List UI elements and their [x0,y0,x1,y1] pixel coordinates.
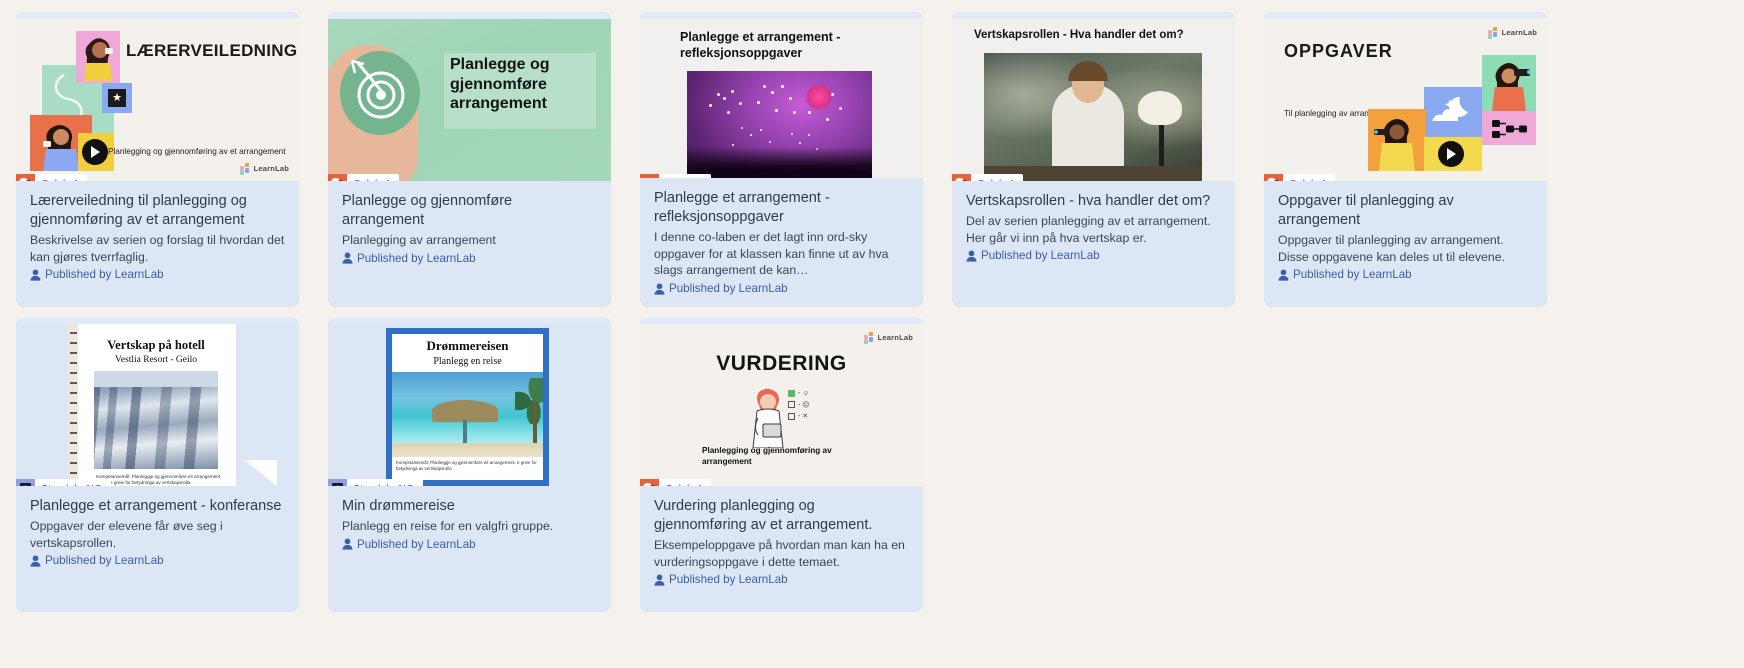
thumbnail-art-notebook: Vertskap på hotell Vestlia Resort - Geil… [16,324,299,486]
card-publisher: Published by LearnLab [654,282,909,295]
card-top-strip [640,12,923,19]
card-description: Planlegg en reise for en valgfri gruppe. [342,518,597,535]
thumbnail-heading: LÆRERVEILEDNING [126,41,297,61]
thumbnail-art-laererveiledning: ★ LÆRERVEILEDNING Planlegging og gjennom… [16,19,299,181]
colab-speech-bubbles-icon [328,174,347,181]
source-badge[interactable]: Colab 4 [328,174,399,181]
person-icon [342,252,353,264]
card-body: Planlegge et arrangement - konferanse Op… [16,486,299,612]
card-thumbnail[interactable]: Planlegge et arrangement - refleksjonsop… [640,19,923,178]
thumbnail-heading: Vertskapsrollen - Hva handler det om? [974,29,1184,41]
learnlab-logo: LearnLab [240,163,289,174]
card-publisher: Published by LearnLab [342,252,597,265]
card-publisher: Published by LearnLab [30,268,285,281]
card-body: Lærerveiledning til planlegging og gjenn… [16,181,299,307]
card-publisher-label: Published by LearnLab [45,268,164,281]
card-top-strip [328,12,611,19]
card-title[interactable]: Vertskapsrollen - hva handler det om? [966,192,1221,211]
thumbnail-art-vurdering: LearnLab VURDERING - ☺ - ☹ - ✕ Planleggi… [640,324,923,486]
card-thumbnail[interactable]: Vertskap på hotell Vestlia Resort - Geil… [16,324,299,486]
thumbnail-art-book: Drømmereisen Planlegg en reise Kompetans… [328,324,611,486]
card-publisher-label: Published by LearnLab [357,252,476,265]
thumbnail-art-oppgaver: LearnLab OPPGAVER Til planlegging av arr… [1264,19,1547,181]
thumbnail-heading: OPPGAVER [1284,41,1393,62]
source-badge-label: Colab 4 [977,178,1014,182]
card-publisher: Published by LearnLab [342,538,597,551]
person-icon [966,250,977,262]
card-description: I denne co-laben er det lagt inn ord-sky… [654,229,909,279]
card-body: Vurdering planlegging og gjennomføring a… [640,486,923,612]
source-badge[interactable]: Colab 4 [640,479,711,486]
person-icon [1278,269,1289,281]
card-top-strip [952,12,1235,19]
card-top-strip [1264,12,1547,19]
storylab-star-book-icon [328,479,347,486]
resource-card[interactable]: Vertskap på hotell Vestlia Resort - Geil… [16,317,299,612]
source-badge-label: Colab 4 [41,178,78,182]
learnlab-mark-icon [864,332,875,343]
person-icon [342,538,353,550]
thumbnail-heading: Planlegge et arrangement - refleksjonsop… [680,29,890,62]
thumbnail-caption: Kompetansemål: Planleggje og gjennomføre… [96,474,226,486]
card-title[interactable]: Oppgaver til planlegging av arrangement [1278,192,1533,230]
resource-card[interactable]: LearnLab VURDERING - ☺ - ☹ - ✕ Planleggi… [640,317,923,612]
card-publisher: Published by LearnLab [1278,268,1533,281]
thumbnail-subheading: Planlegging og gjennomføring av arrangem… [702,445,852,467]
source-badge[interactable]: Storylab ,NO [328,479,423,486]
source-badge-label: Colab 4 [1289,178,1326,182]
card-body: Vertskapsrollen - hva handler det om? De… [952,181,1235,307]
thumbnail-subheading: Planlegg en reise [392,356,543,367]
source-badge[interactable]: Colab 4 [1264,174,1335,181]
card-title[interactable]: Lærerveiledning til planlegging og gjenn… [30,192,285,230]
resource-card[interactable]: Vertskapsrollen - Hva handler det om? [952,12,1235,307]
card-publisher-label: Published by LearnLab [981,249,1100,262]
card-body: Min drømmereise Planlegg en reise for en… [328,486,611,612]
card-top-strip [328,317,611,324]
card-publisher-label: Published by LearnLab [669,282,788,295]
card-thumbnail[interactable]: LearnLab VURDERING - ☺ - ☹ - ✕ Planleggi… [640,324,923,486]
thumbnail-caption: Kompetansemål: Planleggje og gjennomføre… [396,460,538,472]
colab-speech-bubbles-icon [640,174,659,178]
resource-card-grid: ★ LÆRERVEILEDNING Planlegging og gjennom… [0,0,1744,624]
card-thumbnail[interactable]: Drømmereisen Planlegg en reise Kompetans… [328,324,611,486]
assessment-checklist: - ☺ - ☹ - ✕ [788,390,818,424]
source-badge-label: Storylab ,NO [353,483,414,487]
colab-speech-bubbles-icon [16,174,35,181]
spiral-binding [69,324,78,486]
source-badge[interactable]: Colab 4 [952,174,1023,181]
card-title[interactable]: Vurdering planlegging og gjennomføring a… [654,497,909,535]
card-title[interactable]: Min drømmereise [342,497,597,516]
person-icon [654,574,665,586]
card-thumbnail[interactable]: LearnLab OPPGAVER Til planlegging av arr… [1264,19,1547,181]
card-title[interactable]: Planlegge et arrangement - konferanse [30,497,285,516]
card-body: Oppgaver til planlegging av arrangement … [1264,181,1547,307]
card-thumbnail[interactable]: Planlegge og gjennomføre arrangement Col… [328,19,611,181]
resource-card[interactable]: Planlegge et arrangement - refleksjonsop… [640,12,923,307]
thumbnail-heading: Drømmereisen [392,338,543,354]
card-top-strip [16,12,299,19]
source-badge[interactable]: Storylab ,NO [16,479,111,486]
card-description: Planlegging av arrangement [342,232,597,249]
resource-card[interactable]: Planlegge og gjennomføre arrangement Col… [328,12,611,307]
card-description: Eksempeloppgave på hvordan man kan ha en… [654,537,909,570]
thumbnail-subheading: Vestlia Resort - Geilo [86,355,226,365]
card-title[interactable]: Planlegge et arrangement - refleksjonsop… [654,189,909,227]
thumbnail-subheading: Planlegging og gjennomføring av et arran… [108,147,286,156]
colab-speech-bubbles-icon [640,479,659,486]
resource-card[interactable]: Drømmereisen Planlegg en reise Kompetans… [328,317,611,612]
card-description: Del av serien planlegging av et arrangem… [966,213,1221,246]
colab-speech-bubbles-icon [1264,174,1283,181]
thumbnail-art-green-target: Planlegge og gjennomføre arrangement [328,19,611,181]
card-publisher: Published by LearnLab [966,249,1221,262]
card-publisher-label: Published by LearnLab [45,554,164,567]
card-description: Beskrivelse av serien og forslag til hvo… [30,232,285,265]
source-badge-label: Colab 4 [665,483,702,487]
learnlab-mark-icon [1488,27,1499,38]
learnlab-logo: LearnLab [864,332,913,343]
card-body: Planlegge et arrangement - refleksjonsop… [640,178,923,307]
learnlab-wordmark: LearnLab [254,164,289,173]
learnlab-wordmark: LearnLab [1502,28,1537,37]
source-badge-label: Storylab ,NO [41,483,102,487]
person-icon [654,283,665,295]
card-publisher: Published by LearnLab [654,573,909,586]
card-publisher: Published by LearnLab [30,554,285,567]
card-publisher-label: Published by LearnLab [1293,268,1412,281]
card-top-strip [640,317,923,324]
resource-card[interactable]: LearnLab OPPGAVER Til planlegging av arr… [1264,12,1547,307]
thumbnail-heading: Vertskap på hotell [86,338,226,353]
source-badge[interactable]: Colab 4 [16,174,87,181]
colab-speech-bubbles-icon [952,174,971,181]
card-publisher-label: Published by LearnLab [669,573,788,586]
thumbnail-heading: Planlegge og gjennomføre arrangement [450,55,600,114]
learnlab-logo: LearnLab [1488,27,1537,38]
learnlab-mark-icon [240,163,251,174]
card-body: Planlegge og gjennomføre arrangement Pla… [328,181,611,307]
resource-card[interactable]: ★ LÆRERVEILEDNING Planlegging og gjennom… [16,12,299,307]
card-thumbnail[interactable]: Vertskapsrollen - Hva handler det om? [952,19,1235,181]
storylab-star-book-icon [16,479,35,486]
card-description: Oppgaver til planlegging av arrangement.… [1278,232,1533,265]
thumbnail-art-fireworks: Planlegge et arrangement - refleksjonsop… [640,19,923,178]
card-top-strip [16,317,299,324]
learnlab-wordmark: LearnLab [878,333,913,342]
person-icon [30,269,41,281]
card-title[interactable]: Planlegge og gjennomføre arrangement [342,192,597,230]
card-description: Oppgaver der elevene får øve seg i verts… [30,518,285,551]
person-icon [30,555,41,567]
source-badge-label: Colab 4 [665,177,702,178]
source-badge-label: Colab 4 [353,178,390,182]
thumbnail-art-reception: Vertskapsrollen - Hva handler det om? [952,19,1235,181]
source-badge[interactable]: Colab 4 [640,174,711,178]
card-thumbnail[interactable]: ★ LÆRERVEILEDNING Planlegging og gjennom… [16,19,299,181]
thumbnail-heading: VURDERING [640,352,923,376]
card-publisher-label: Published by LearnLab [357,538,476,551]
